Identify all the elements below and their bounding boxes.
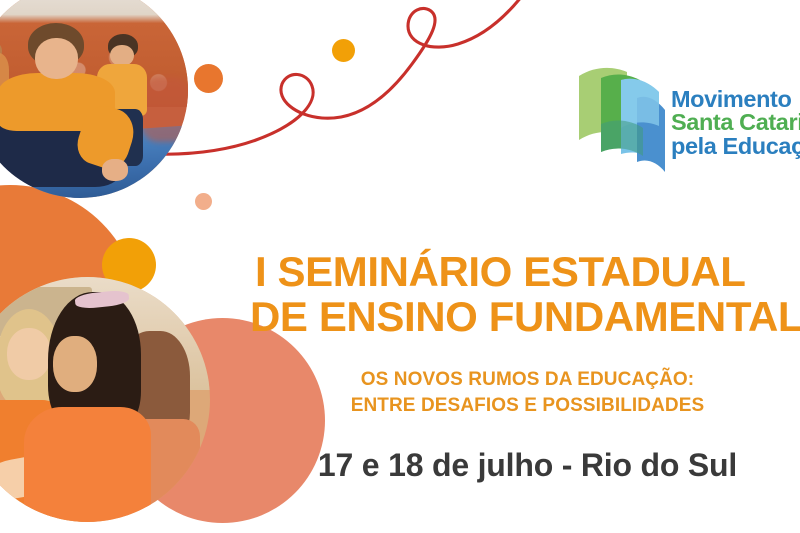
subtitle-line-2: ENTRE DESAFIOS E POSSIBILIDADES bbox=[255, 393, 800, 419]
logo-line-1: Movimento bbox=[671, 88, 800, 111]
event-subtitle: OS NOVOS RUMOS DA EDUCAÇÃO: ENTRE DESAFI… bbox=[255, 367, 800, 419]
photo-children-classroom bbox=[0, 277, 210, 522]
subtitle-line-1: OS NOVOS RUMOS DA EDUCAÇÃO: bbox=[255, 367, 800, 393]
event-poster: Movimento Santa Catarina pela Educação I… bbox=[0, 0, 800, 533]
photo-children-gym bbox=[0, 0, 188, 198]
event-title: I SEMINÁRIO ESTADUAL DE ENSINO FUNDAMENT… bbox=[255, 250, 800, 339]
date-text: 17 e 18 de julho - Rio do Sul bbox=[318, 447, 737, 483]
logo-line-2: Santa Catarina bbox=[671, 111, 800, 134]
title-line-2: DE ENSINO FUNDAMENTAL bbox=[250, 295, 800, 340]
event-date-location: 17 e 18 de julho - Rio do Sul bbox=[255, 447, 800, 484]
logo-line-3: pela Educação bbox=[671, 135, 800, 158]
organization-logo: Movimento Santa Catarina pela Educação bbox=[575, 64, 800, 176]
book-pages-logo-icon bbox=[575, 64, 667, 176]
title-line-1: I SEMINÁRIO ESTADUAL bbox=[255, 250, 800, 295]
